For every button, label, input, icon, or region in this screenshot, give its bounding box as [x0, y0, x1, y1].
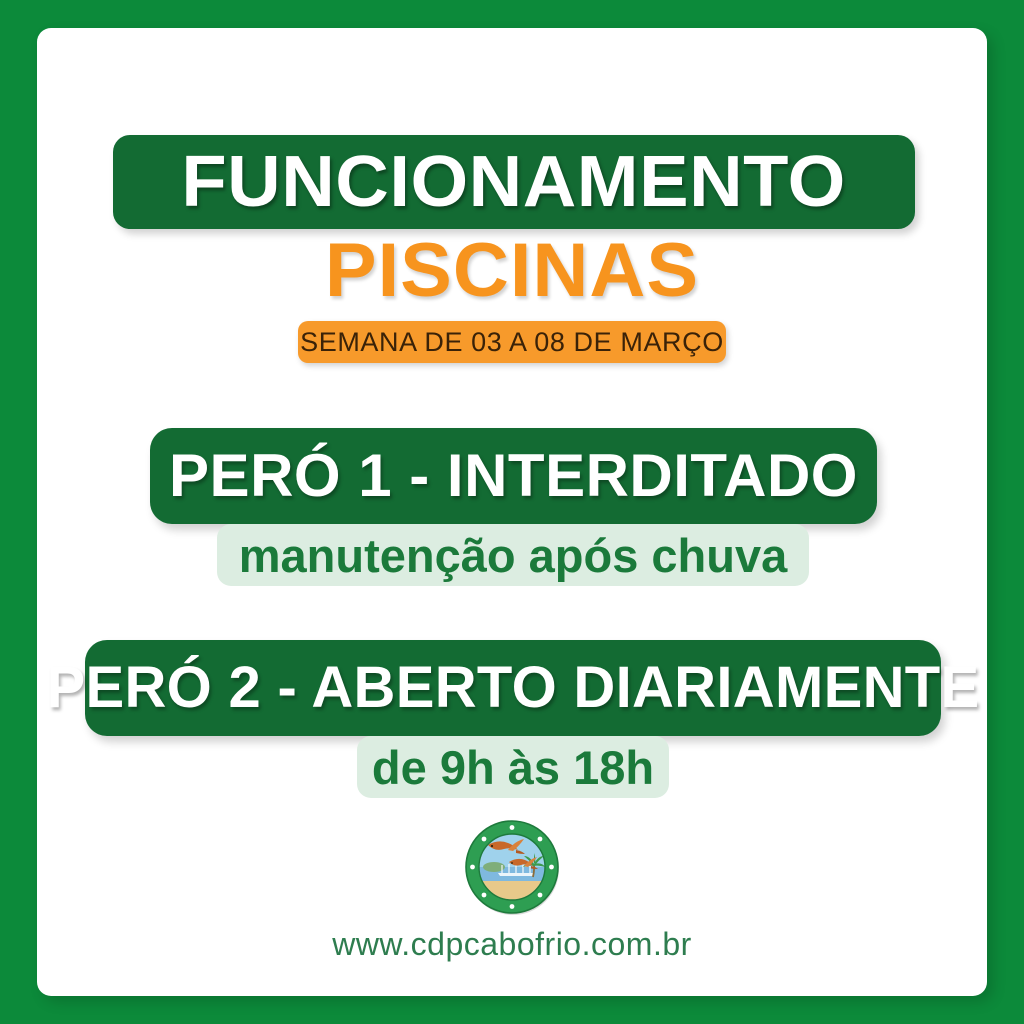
website-url[interactable]: www.cdpcabofrio.com.br	[37, 926, 987, 963]
header-title-banner: FUNCIONAMENTO	[113, 135, 915, 229]
header-subtitle: PISCINAS	[37, 233, 987, 309]
organization-logo-icon	[462, 817, 562, 917]
poster-white-panel: FUNCIONAMENTO PISCINAS SEMANA DE 03 A 08…	[37, 28, 987, 996]
poster-canvas: FUNCIONAMENTO PISCINAS SEMANA DE 03 A 08…	[0, 0, 1024, 1024]
section-1-note: manutenção após chuva	[239, 532, 788, 579]
page-title: FUNCIONAMENTO	[182, 146, 847, 218]
section-2-note-highlight: de 9h às 18h	[357, 736, 669, 798]
date-range-badge: SEMANA DE 03 A 08 DE MARÇO	[298, 321, 726, 363]
section-1-headline-banner: PERÓ 1 - INTERDITADO	[150, 428, 877, 524]
section-1-note-highlight: manutenção após chuva	[217, 524, 809, 586]
section-2-note: de 9h às 18h	[372, 744, 654, 791]
section-2-headline-banner: PERÓ 2 - ABERTO DIARIAMENTE	[85, 640, 941, 736]
section-1-headline: PERÓ 1 - INTERDITADO	[169, 446, 858, 506]
date-range-label: SEMANA DE 03 A 08 DE MARÇO	[300, 327, 724, 358]
section-2-headline: PERÓ 2 - ABERTO DIARIAMENTE	[47, 659, 980, 717]
